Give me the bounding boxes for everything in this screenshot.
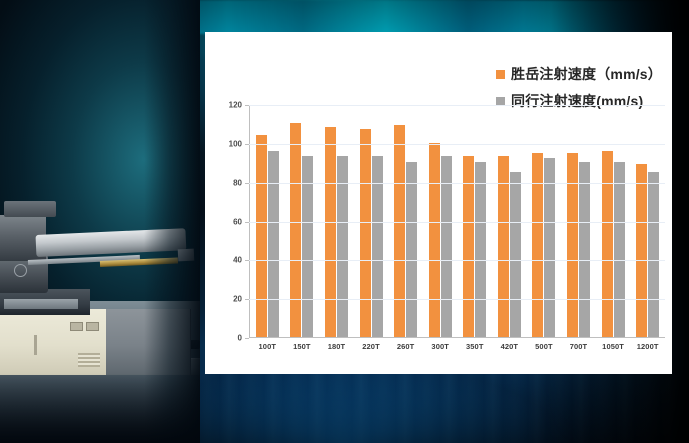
- x-axis-tick-label: 350T: [457, 342, 492, 351]
- x-axis-tick-label: 150T: [285, 342, 320, 351]
- y-axis-tick-label: 120: [229, 101, 242, 110]
- machine-motor-circle: [14, 264, 27, 277]
- y-axis-tick-label: 0: [238, 334, 242, 343]
- gridline: [249, 222, 665, 223]
- x-axis-tick-label: 260T: [388, 342, 423, 351]
- y-axis-tick-label: 20: [233, 295, 242, 304]
- cabinet-vent: [78, 353, 100, 367]
- bar[interactable]: [268, 151, 279, 337]
- chart-area: 胜岳注射速度（mm/s）同行注射速度(mm/s) 020406080100120…: [205, 32, 672, 374]
- x-axis-tick-label: 500T: [527, 342, 562, 351]
- cabinet-handle: [34, 335, 37, 355]
- bar[interactable]: [256, 135, 267, 337]
- y-axis-tick: [245, 222, 249, 223]
- legend-item[interactable]: 胜岳注射速度（mm/s）: [496, 64, 662, 84]
- y-axis-tick-label: 80: [233, 178, 242, 187]
- machine-photo: [0, 0, 200, 443]
- bar[interactable]: [325, 127, 336, 337]
- photo-bottom-fade: [0, 373, 200, 443]
- legend-swatch-icon: [496, 70, 505, 79]
- bar[interactable]: [579, 162, 590, 337]
- cabinet-button-1: [70, 322, 83, 331]
- cabinet-button-2: [86, 322, 99, 331]
- bar[interactable]: [532, 153, 543, 337]
- bar[interactable]: [510, 172, 521, 337]
- x-axis-line: [249, 337, 665, 338]
- bar[interactable]: [406, 162, 417, 337]
- x-axis-tick-label: 180T: [319, 342, 354, 351]
- y-axis-tick-label: 100: [229, 139, 242, 148]
- machine-rail: [4, 299, 78, 309]
- gridline: [249, 144, 665, 145]
- gridline: [249, 260, 665, 261]
- x-axis-tick-label: 700T: [561, 342, 596, 351]
- machine-head-top: [4, 201, 56, 217]
- gridline: [249, 183, 665, 184]
- y-axis-tick-label: 60: [233, 217, 242, 226]
- bar[interactable]: [475, 162, 486, 337]
- bar[interactable]: [360, 129, 371, 337]
- y-axis-tick: [245, 105, 249, 106]
- x-axis-labels: 100T150T180T220T260T300T350T420T500T700T…: [250, 342, 665, 351]
- bar[interactable]: [394, 125, 405, 337]
- slide-canvas: 胜岳注射速度（mm/s）同行注射速度(mm/s) 020406080100120…: [0, 0, 689, 443]
- gridline: [249, 105, 665, 106]
- x-axis-tick-label: 1200T: [630, 342, 665, 351]
- bar[interactable]: [290, 123, 301, 337]
- x-axis-tick-label: 1050T: [596, 342, 631, 351]
- bar[interactable]: [567, 153, 578, 337]
- legend-label: 胜岳注射速度（mm/s）: [511, 64, 662, 84]
- bar[interactable]: [602, 151, 613, 337]
- y-axis-tick: [245, 299, 249, 300]
- x-axis-tick-label: 420T: [492, 342, 527, 351]
- bar[interactable]: [544, 158, 555, 337]
- y-axis-tick: [245, 144, 249, 145]
- y-axis-tick: [245, 183, 249, 184]
- bar[interactable]: [636, 164, 647, 337]
- gridline: [249, 299, 665, 300]
- bar[interactable]: [648, 172, 659, 337]
- bar[interactable]: [614, 162, 625, 337]
- chart-plot-area: 020406080100120: [249, 105, 665, 338]
- bar[interactable]: [429, 143, 440, 337]
- y-axis-tick-label: 40: [233, 256, 242, 265]
- x-axis-tick-label: 300T: [423, 342, 458, 351]
- y-axis-tick: [245, 338, 249, 339]
- y-axis-tick: [245, 260, 249, 261]
- chart-panel: 胜岳注射速度（mm/s）同行注射速度(mm/s) 020406080100120…: [205, 32, 672, 374]
- x-axis-tick-label: 100T: [250, 342, 285, 351]
- x-axis-tick-label: 220T: [354, 342, 389, 351]
